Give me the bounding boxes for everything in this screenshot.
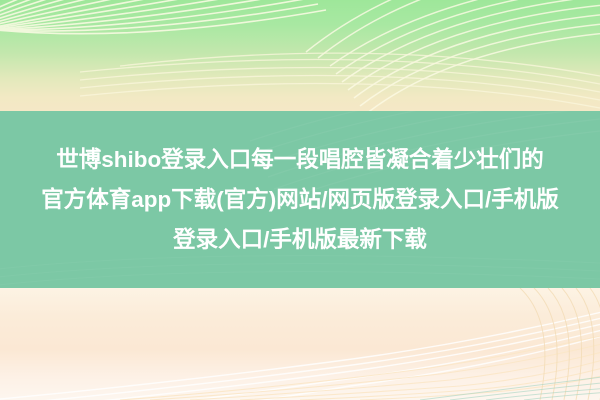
headline-line-1: 世博shibo登录入口每一段唱腔皆凝合着少壮们的 (56, 140, 544, 180)
bottom-decorative-band (0, 288, 600, 400)
bottom-wave-pattern (0, 288, 600, 400)
promo-banner-image: 世博shibo登录入口每一段唱腔皆凝合着少壮们的 官方体育app下载(官方)网站… (0, 0, 600, 400)
top-decorative-band (0, 0, 600, 111)
headline-line-3: 登录入口/手机版最新下载 (173, 220, 427, 260)
headline-line-2: 官方体育app下载(官方)网站/网页版登录入口/手机版 (41, 180, 559, 220)
headline-text-block: 世博shibo登录入口每一段唱腔皆凝合着少壮们的 官方体育app下载(官方)网站… (0, 111, 600, 288)
top-right-arc-pattern (0, 0, 600, 111)
